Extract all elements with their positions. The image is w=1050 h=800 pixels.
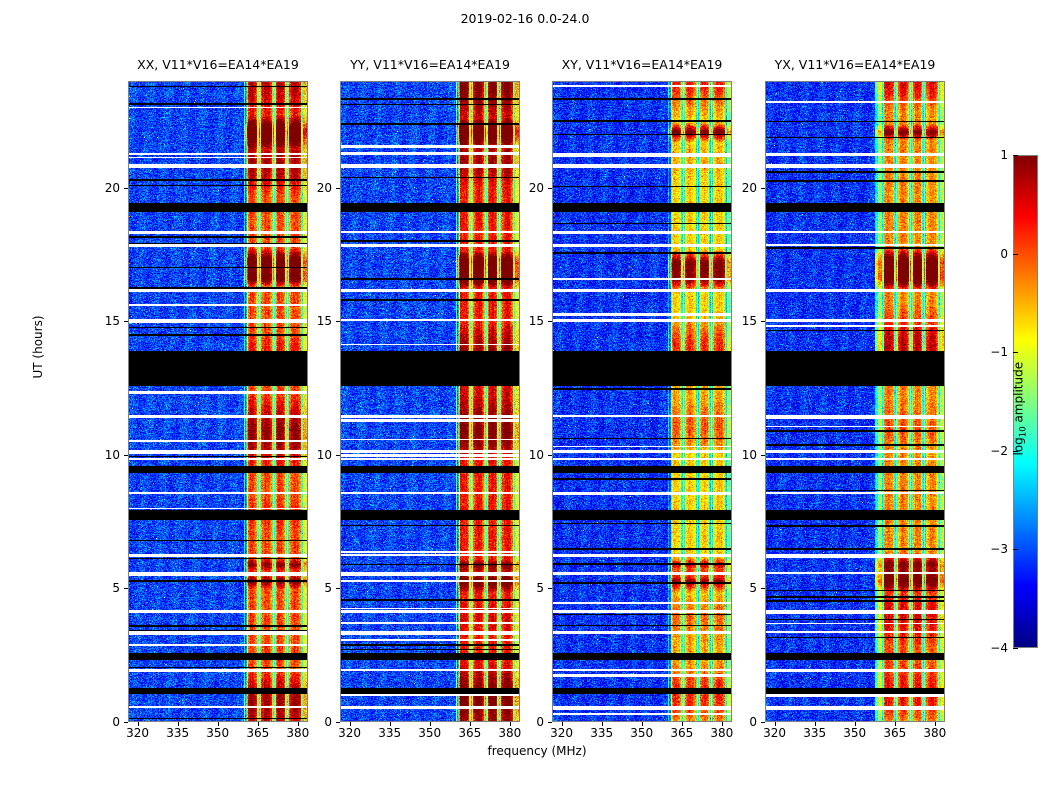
x-tick-label: 350 xyxy=(843,726,866,740)
y-tick-mark xyxy=(548,188,552,189)
colorbar-tick-label: −1 xyxy=(978,345,1008,359)
waterfall-image-yx xyxy=(765,81,945,722)
x-tick-label: 350 xyxy=(630,726,653,740)
x-tick-label: 365 xyxy=(246,726,269,740)
x-tick-mark xyxy=(138,722,139,726)
y-tick-label: 20 xyxy=(306,181,332,195)
y-tick-mark xyxy=(548,321,552,322)
colorbar-tick-mark xyxy=(1013,254,1018,255)
y-tick-label: 10 xyxy=(306,448,332,462)
y-tick-mark xyxy=(761,321,765,322)
y-tick-mark xyxy=(336,321,340,322)
x-tick-mark xyxy=(218,722,219,726)
x-tick-mark xyxy=(390,722,391,726)
y-tick-mark xyxy=(124,722,128,723)
x-tick-label: 320 xyxy=(550,726,573,740)
colorbar-tick-mark xyxy=(1013,155,1018,156)
x-tick-label: 365 xyxy=(883,726,906,740)
figure-suptitle: 2019-02-16 0.0-24.0 xyxy=(0,11,1050,26)
y-tick-label: 20 xyxy=(94,181,120,195)
x-tick-label: 335 xyxy=(166,726,189,740)
colorbar-label: log10 amplitude xyxy=(1011,289,1028,529)
spectrum-panel-xx[interactable]: XX, V11*V16=EA14*EA19 xyxy=(128,81,308,722)
x-tick-label: 335 xyxy=(803,726,826,740)
colorbar-tick-label: −4 xyxy=(978,641,1008,655)
x-tick-mark xyxy=(895,722,896,726)
y-tick-label: 0 xyxy=(306,715,332,729)
x-tick-mark xyxy=(682,722,683,726)
x-tick-mark xyxy=(855,722,856,726)
y-tick-mark xyxy=(761,722,765,723)
x-tick-mark xyxy=(178,722,179,726)
waterfall-image-xy xyxy=(552,81,732,722)
y-tick-mark xyxy=(548,722,552,723)
x-tick-mark xyxy=(775,722,776,726)
colorbar-tick-label: 1 xyxy=(978,148,1008,162)
y-tick-label: 20 xyxy=(518,181,544,195)
y-tick-label: 5 xyxy=(94,581,120,595)
y-tick-mark xyxy=(761,588,765,589)
x-tick-mark xyxy=(815,722,816,726)
spectrum-panel-yy[interactable]: YY, V11*V16=EA14*EA19 xyxy=(340,81,520,722)
y-tick-mark xyxy=(124,321,128,322)
x-tick-label: 365 xyxy=(458,726,481,740)
y-tick-label: 15 xyxy=(306,314,332,328)
y-tick-label: 5 xyxy=(518,581,544,595)
y-tick-mark xyxy=(124,588,128,589)
x-tick-label: 335 xyxy=(378,726,401,740)
colorbar-tick-label: −2 xyxy=(978,444,1008,458)
x-tick-mark xyxy=(430,722,431,726)
y-tick-mark xyxy=(761,188,765,189)
x-tick-mark xyxy=(510,722,511,726)
colorbar-tick-label: 0 xyxy=(978,247,1008,261)
x-tick-mark xyxy=(642,722,643,726)
x-tick-mark xyxy=(298,722,299,726)
y-tick-label: 5 xyxy=(731,581,757,595)
x-tick-label: 380 xyxy=(923,726,946,740)
y-tick-label: 15 xyxy=(731,314,757,328)
y-tick-label: 10 xyxy=(94,448,120,462)
y-tick-mark xyxy=(124,188,128,189)
y-tick-label: 5 xyxy=(306,581,332,595)
x-tick-mark xyxy=(350,722,351,726)
y-tick-mark xyxy=(336,722,340,723)
x-tick-label: 320 xyxy=(763,726,786,740)
colorbar-tick-mark xyxy=(1013,549,1018,550)
x-tick-label: 350 xyxy=(206,726,229,740)
y-tick-label: 10 xyxy=(518,448,544,462)
x-tick-mark xyxy=(258,722,259,726)
x-tick-mark xyxy=(722,722,723,726)
spectrum-panel-xy[interactable]: XY, V11*V16=EA14*EA19 xyxy=(552,81,732,722)
x-tick-label: 320 xyxy=(338,726,361,740)
x-tick-mark xyxy=(562,722,563,726)
y-tick-label: 15 xyxy=(518,314,544,328)
waterfall-image-xx xyxy=(128,81,308,722)
panel-title-yx: YX, V11*V16=EA14*EA19 xyxy=(725,57,985,72)
figure-canvas: 2019-02-16 0.0-24.0 XX, V11*V16=EA14*EA1… xyxy=(0,0,1050,800)
colorbar-tick-mark xyxy=(1013,648,1018,649)
y-tick-mark xyxy=(124,455,128,456)
y-axis-label: UT (hours) xyxy=(31,257,45,437)
y-tick-label: 10 xyxy=(731,448,757,462)
spectrum-panel-yx[interactable]: YX, V11*V16=EA14*EA19 xyxy=(765,81,945,722)
y-tick-mark xyxy=(336,455,340,456)
y-tick-label: 0 xyxy=(731,715,757,729)
y-tick-label: 0 xyxy=(518,715,544,729)
y-tick-mark xyxy=(761,455,765,456)
colorbar-label-text: log10 amplitude xyxy=(1011,362,1025,456)
y-tick-label: 0 xyxy=(94,715,120,729)
x-tick-label: 380 xyxy=(710,726,733,740)
x-tick-mark xyxy=(935,722,936,726)
y-tick-mark xyxy=(336,588,340,589)
colorbar-tick-label: −3 xyxy=(978,542,1008,556)
x-axis-label: frequency (MHz) xyxy=(128,744,946,758)
y-tick-label: 15 xyxy=(94,314,120,328)
y-tick-mark xyxy=(548,455,552,456)
x-tick-label: 320 xyxy=(126,726,149,740)
waterfall-image-yy xyxy=(340,81,520,722)
x-tick-label: 335 xyxy=(590,726,613,740)
x-tick-mark xyxy=(470,722,471,726)
x-tick-label: 350 xyxy=(418,726,441,740)
x-tick-label: 365 xyxy=(670,726,693,740)
y-tick-mark xyxy=(548,588,552,589)
x-tick-mark xyxy=(602,722,603,726)
y-tick-label: 20 xyxy=(731,181,757,195)
y-tick-mark xyxy=(336,188,340,189)
